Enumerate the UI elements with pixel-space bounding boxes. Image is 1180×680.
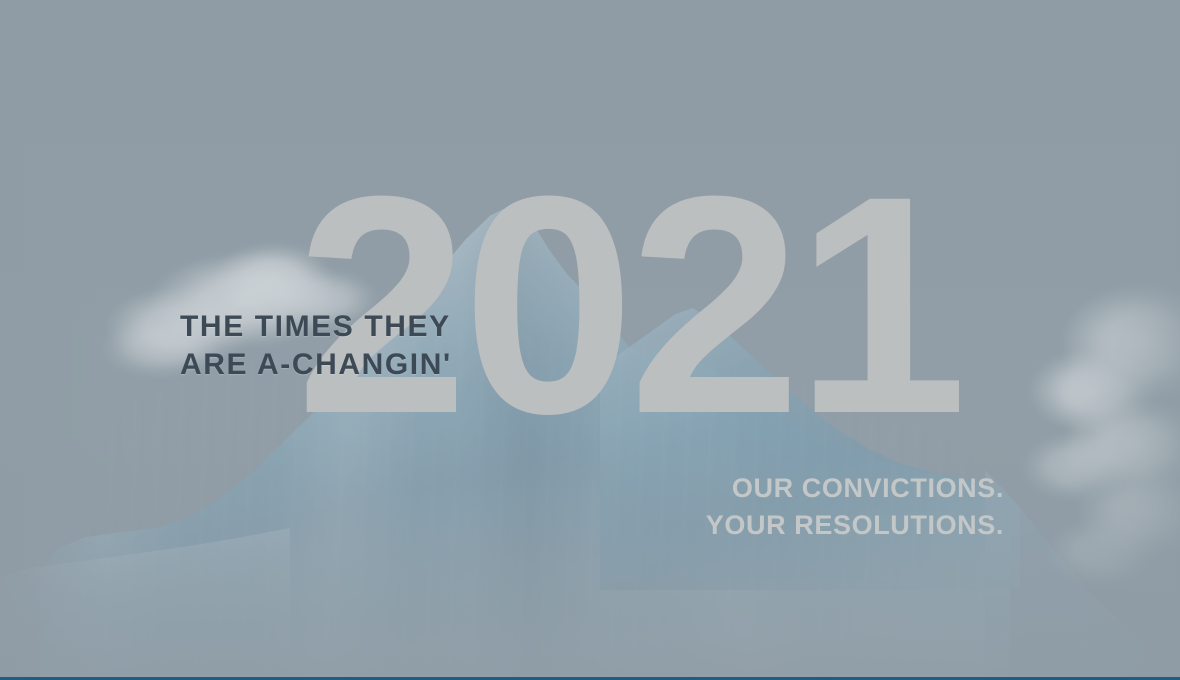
hero-banner: 2021 THE TIMES THEY ARE A-CHANGIN' OUR C… xyxy=(0,0,1180,680)
cloud-right-2 xyxy=(1028,348,1158,434)
headline-text: THE TIMES THEY ARE A-CHANGIN' xyxy=(180,308,452,384)
cloud-right-1 xyxy=(1060,282,1180,402)
cloud-right-3 xyxy=(1062,398,1180,494)
cloud-right-4 xyxy=(1020,432,1130,502)
year-display: 2021 xyxy=(296,176,1036,433)
tagline-text: OUR CONVICTIONS. YOUR RESOLUTIONS. xyxy=(706,470,1004,543)
iceberg-right-slope xyxy=(985,470,1180,680)
cloud-right-5 xyxy=(1076,466,1180,558)
